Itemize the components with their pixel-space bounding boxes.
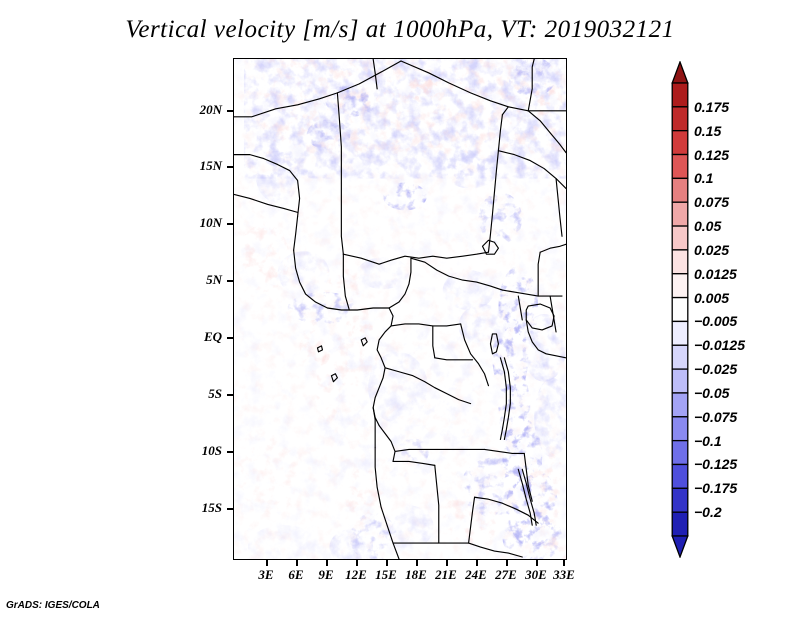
y-tick-10S	[227, 451, 233, 453]
colorbar-swatch	[672, 83, 688, 107]
colorbar-tick-label: −0.2	[694, 504, 722, 520]
x-axis-label-9E: 9E	[318, 567, 333, 583]
colorbar-swatch	[672, 202, 688, 226]
x-tick-6E	[296, 560, 298, 566]
colorbar-swatch	[672, 345, 688, 369]
colorbar-tick-label: 0.15	[694, 123, 721, 139]
colorbar-swatch	[672, 393, 688, 417]
x-tick-3E	[266, 560, 268, 566]
colorbar-swatch	[672, 131, 688, 155]
y-tick-10N	[227, 223, 233, 225]
x-tick-33E	[563, 560, 565, 566]
colorbar-swatch	[672, 226, 688, 250]
x-tick-21E	[446, 560, 448, 566]
colorbar-tick-label: −0.075	[694, 409, 737, 425]
colorbar-max-arrow	[672, 62, 688, 83]
x-tick-12E	[356, 560, 358, 566]
y-axis-label-15N: 15N	[200, 158, 222, 174]
colorbar-swatch	[672, 178, 688, 202]
colorbar-tick-label: −0.05	[694, 385, 729, 401]
y-tick-15S	[227, 508, 233, 510]
y-tick-5S	[227, 394, 233, 396]
colorbar-tick-label: 0.005	[694, 290, 729, 306]
colorbar-tick-label: 0.0125	[694, 266, 737, 282]
colorbar-min-arrow	[672, 536, 688, 557]
y-axis-label-5N: 5N	[206, 272, 222, 288]
colorbar-tick-label: 0.075	[694, 194, 729, 210]
x-axis-label-6E: 6E	[288, 567, 303, 583]
x-axis-label-24E: 24E	[465, 567, 487, 583]
colorbar-swatch	[672, 298, 688, 322]
colorbar-swatch	[672, 441, 688, 465]
x-tick-9E	[326, 560, 328, 566]
x-tick-15E	[386, 560, 388, 566]
colorbar-swatch	[672, 274, 688, 298]
colorbar-swatch	[672, 488, 688, 512]
x-axis-label-3E: 3E	[258, 567, 273, 583]
y-axis-label-20N: 20N	[200, 102, 222, 118]
colorbar-tick-label: −0.175	[694, 480, 737, 496]
y-axis-label-5S: 5S	[208, 386, 222, 402]
x-tick-18E	[416, 560, 418, 566]
y-axis-label-10S: 10S	[202, 443, 222, 459]
x-axis-label-27E: 27E	[495, 567, 517, 583]
colorbar-swatch	[672, 369, 688, 393]
x-tick-24E	[476, 560, 478, 566]
y-tick-20N	[227, 110, 233, 112]
x-axis-label-21E: 21E	[435, 567, 457, 583]
x-tick-27E	[506, 560, 508, 566]
colorbar-tick-label: −0.005	[694, 313, 737, 329]
colorbar-tick-label: 0.1	[694, 170, 713, 186]
y-tick-15N	[227, 166, 233, 168]
x-tick-30E	[536, 560, 538, 566]
y-tick-5N	[227, 280, 233, 282]
colorbar-swatch	[672, 250, 688, 274]
colorbar-tick-label: 0.025	[694, 242, 729, 258]
colorbar-tick-label: 0.05	[694, 218, 721, 234]
colorbar-swatches	[671, 61, 689, 558]
colorbar-swatch	[672, 417, 688, 441]
y-axis-label-15S: 15S	[202, 500, 222, 516]
colorbar-tick-label: −0.0125	[694, 337, 745, 353]
y-axis-label-10N: 10N	[200, 215, 222, 231]
x-axis-label-18E: 18E	[405, 567, 427, 583]
colorbar[interactable]	[671, 61, 689, 558]
colorbar-tick-label: −0.025	[694, 361, 737, 377]
x-axis-label-30E: 30E	[525, 567, 547, 583]
colorbar-swatch	[672, 464, 688, 488]
map-plot-panel[interactable]	[233, 58, 567, 560]
x-axis-label-12E: 12E	[345, 567, 367, 583]
y-axis-label-EQ: EQ	[204, 329, 222, 345]
x-axis-label-15E: 15E	[375, 567, 397, 583]
footer-credit: GrADS: IGES/COLA	[6, 600, 100, 611]
colorbar-swatch	[672, 512, 688, 536]
colorbar-swatch	[672, 107, 688, 131]
x-axis-label-33E: 33E	[553, 567, 575, 583]
colorbar-tick-label: 0.175	[694, 99, 729, 115]
colorbar-tick-label: −0.1	[694, 433, 722, 449]
colorbar-swatch	[672, 321, 688, 345]
colorbar-tick-label: 0.125	[694, 147, 729, 163]
page-title: Vertical velocity [m/s] at 1000hPa, VT: …	[0, 16, 800, 44]
country-borders-overlay	[234, 59, 566, 559]
colorbar-swatch	[672, 155, 688, 179]
y-tick-EQ	[227, 337, 233, 339]
colorbar-tick-label: −0.125	[694, 456, 737, 472]
